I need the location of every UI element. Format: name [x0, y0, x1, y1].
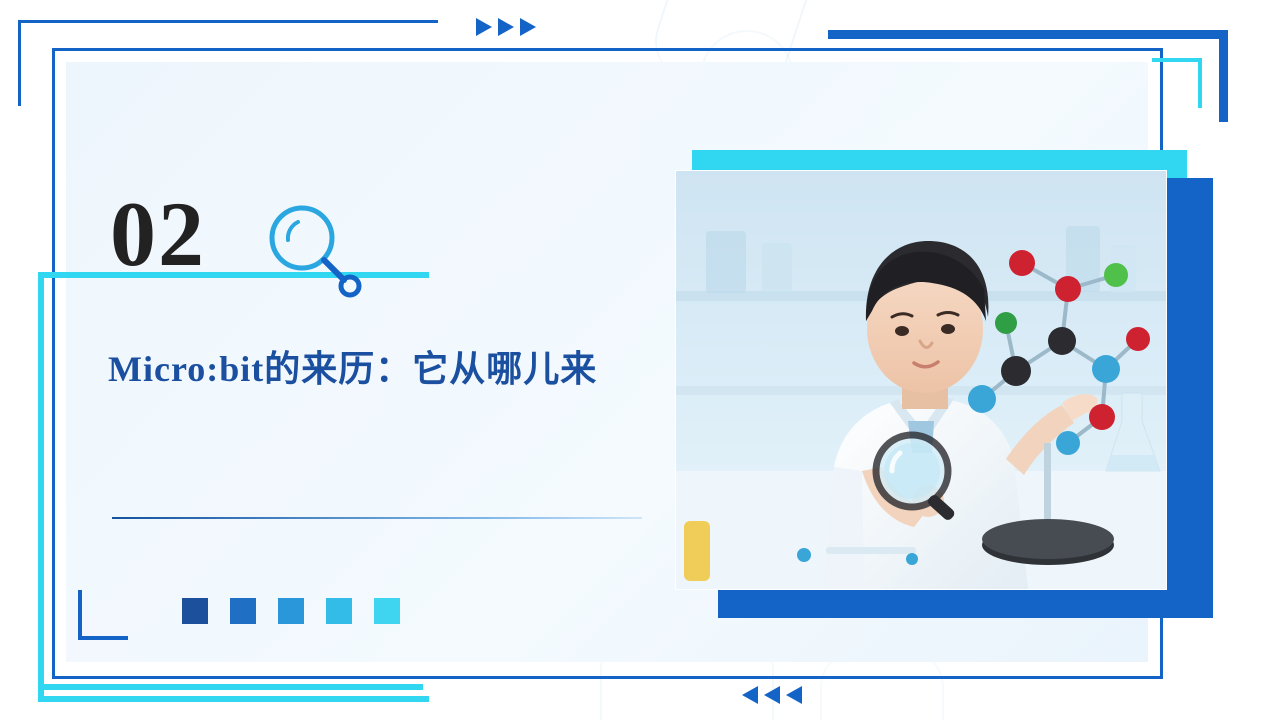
top-right-blue-bar: [828, 30, 1228, 39]
right-arrow-icon: [476, 18, 492, 36]
title-divider: [112, 517, 642, 519]
square-marker-row: [182, 598, 400, 624]
left-arrow-icon: [786, 686, 802, 704]
top-right-blue-bar-vertical: [1219, 30, 1228, 122]
bottom-arrow-cluster: [742, 686, 802, 704]
photo-boy-in-lab: [675, 170, 1167, 590]
square-marker: [230, 598, 256, 624]
magnifier-icon: [258, 200, 368, 300]
square-marker: [278, 598, 304, 624]
page-title: Micro:bit的来历：它从哪儿来: [108, 340, 648, 398]
right-arrow-icon: [498, 18, 514, 36]
top-left-horizontal-line: [18, 20, 438, 23]
square-marker: [374, 598, 400, 624]
cyan-accent-frame-bottom: [38, 684, 423, 690]
left-arrow-icon: [742, 686, 758, 704]
top-arrow-cluster: [476, 18, 536, 36]
corner-accent-top-right: [1152, 58, 1202, 108]
section-number: 02: [110, 188, 206, 280]
corner-accent-bottom-left: [78, 590, 128, 640]
right-arrow-icon: [520, 18, 536, 36]
presentation-slide: 02 Micro:bit的来历：它从哪儿来: [0, 0, 1280, 720]
square-marker: [182, 598, 208, 624]
square-marker: [326, 598, 352, 624]
top-left-vertical-line: [18, 20, 21, 106]
left-arrow-icon: [764, 686, 780, 704]
